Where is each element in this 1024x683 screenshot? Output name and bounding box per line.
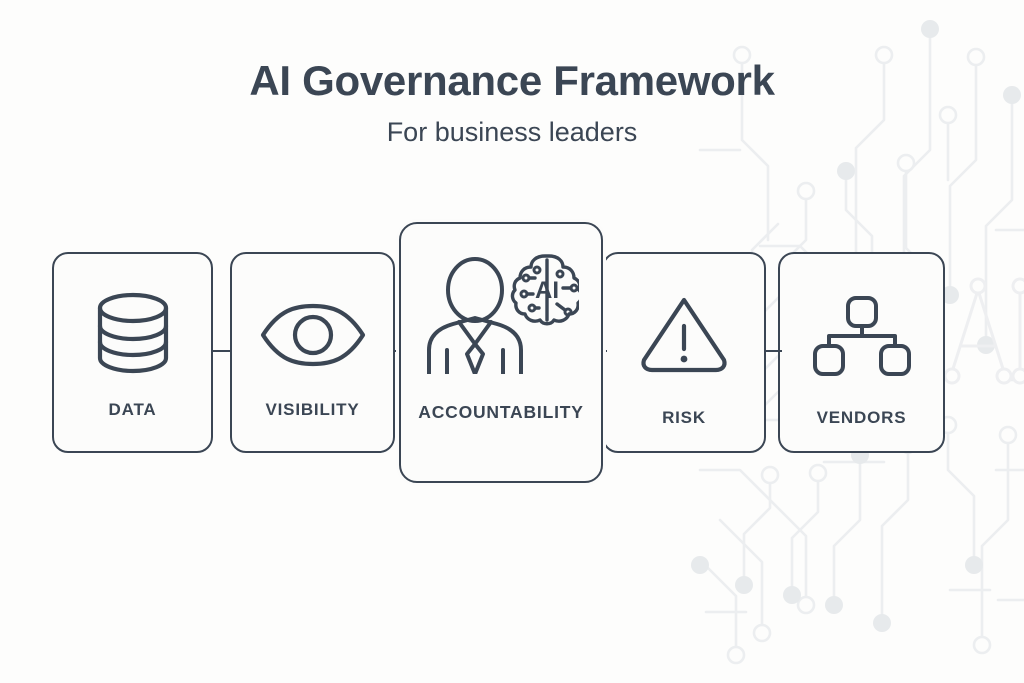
infographic-canvas: AI Governance Framework For business lea… [0,0,1024,683]
framework-diagram: DATA VISIBILITY [0,0,1024,683]
pillar-label-risk: RISK [662,408,706,428]
org-hierarchy-icon [811,296,913,376]
person-with-ai-brain-icon-wrap: AI [401,252,601,374]
warning-triangle-icon-wrap [604,294,764,374]
pillar-card-accountability[interactable]: AI ACCOUNTABILITY [399,222,603,483]
pillar-label-visibility: VISIBILITY [266,400,360,420]
pillar-card-vendors[interactable]: VENDORS [778,252,945,453]
connector-risk-vendors [764,350,782,352]
pillar-card-data[interactable]: DATA [52,252,213,453]
brain-ai-text: AI [535,277,559,304]
person-with-ai-brain-icon: AI [423,252,579,374]
pillar-label-data: DATA [109,400,157,420]
database-icon-wrap [54,290,211,376]
connector-data-visibility [211,350,232,352]
pillar-label-vendors: VENDORS [817,408,907,428]
org-hierarchy-icon-wrap [780,296,943,376]
database-icon [92,290,174,376]
pillar-label-accountability: ACCOUNTABILITY [418,402,583,423]
eye-icon-wrap [232,300,393,370]
eye-icon [259,302,367,368]
pillar-card-visibility[interactable]: VISIBILITY [230,252,395,453]
pillar-card-risk[interactable]: RISK [602,252,766,453]
warning-triangle-icon [638,294,730,374]
